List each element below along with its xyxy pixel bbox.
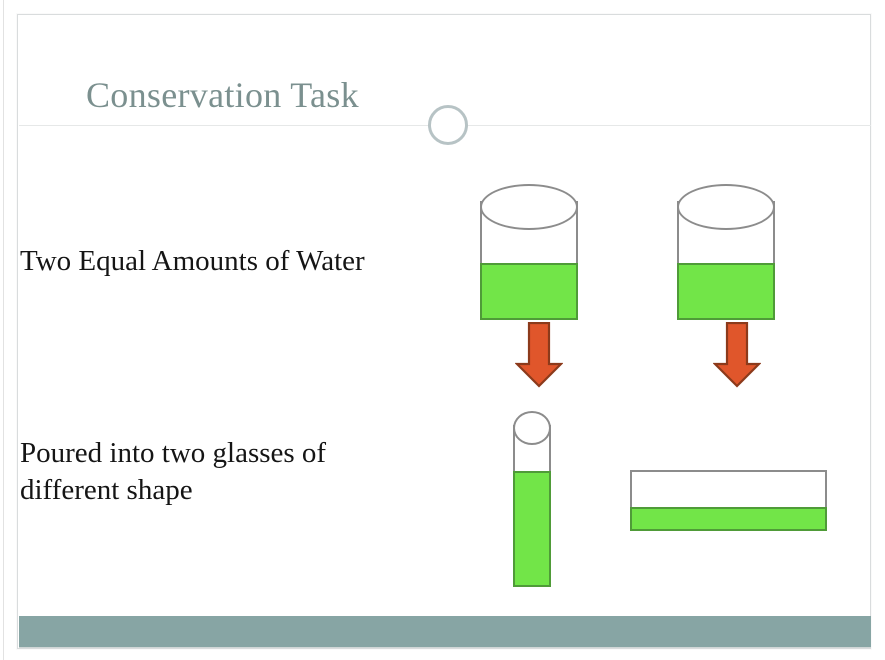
page-title: Conservation Task: [86, 73, 359, 117]
beaker-rim: [677, 184, 775, 230]
body-text-two-equal-amounts: Two Equal Amounts of Water: [20, 243, 470, 280]
arrow-down-icon: [713, 322, 761, 388]
wide-flat-dish: [630, 470, 827, 531]
tall-narrow-glass: [513, 411, 551, 587]
body-text-poured-line-2: different shape: [20, 472, 440, 509]
body-text-poured-into: Poured into two glasses of different sha…: [20, 435, 440, 509]
wide-beaker-left: [480, 184, 580, 322]
circle-ring-icon: [428, 105, 468, 145]
glass-rim: [513, 411, 551, 445]
water-fill: [630, 507, 827, 531]
body-text-poured-line-1: Poured into two glasses of: [20, 435, 440, 472]
slide-canvas: Conservation Task Two Equal Amounts of W…: [17, 14, 871, 649]
slide-accent-bar: [19, 616, 871, 647]
water-fill: [677, 263, 775, 320]
arrow-down-icon: [515, 322, 563, 388]
slide-accent-bar-edge: [19, 647, 871, 648]
wide-beaker-right: [677, 184, 777, 322]
window-left-rule: [3, 0, 4, 660]
water-fill: [480, 263, 578, 320]
water-fill: [513, 471, 551, 587]
slide-root: Conservation Task Two Equal Amounts of W…: [0, 0, 885, 660]
beaker-rim: [480, 184, 578, 230]
